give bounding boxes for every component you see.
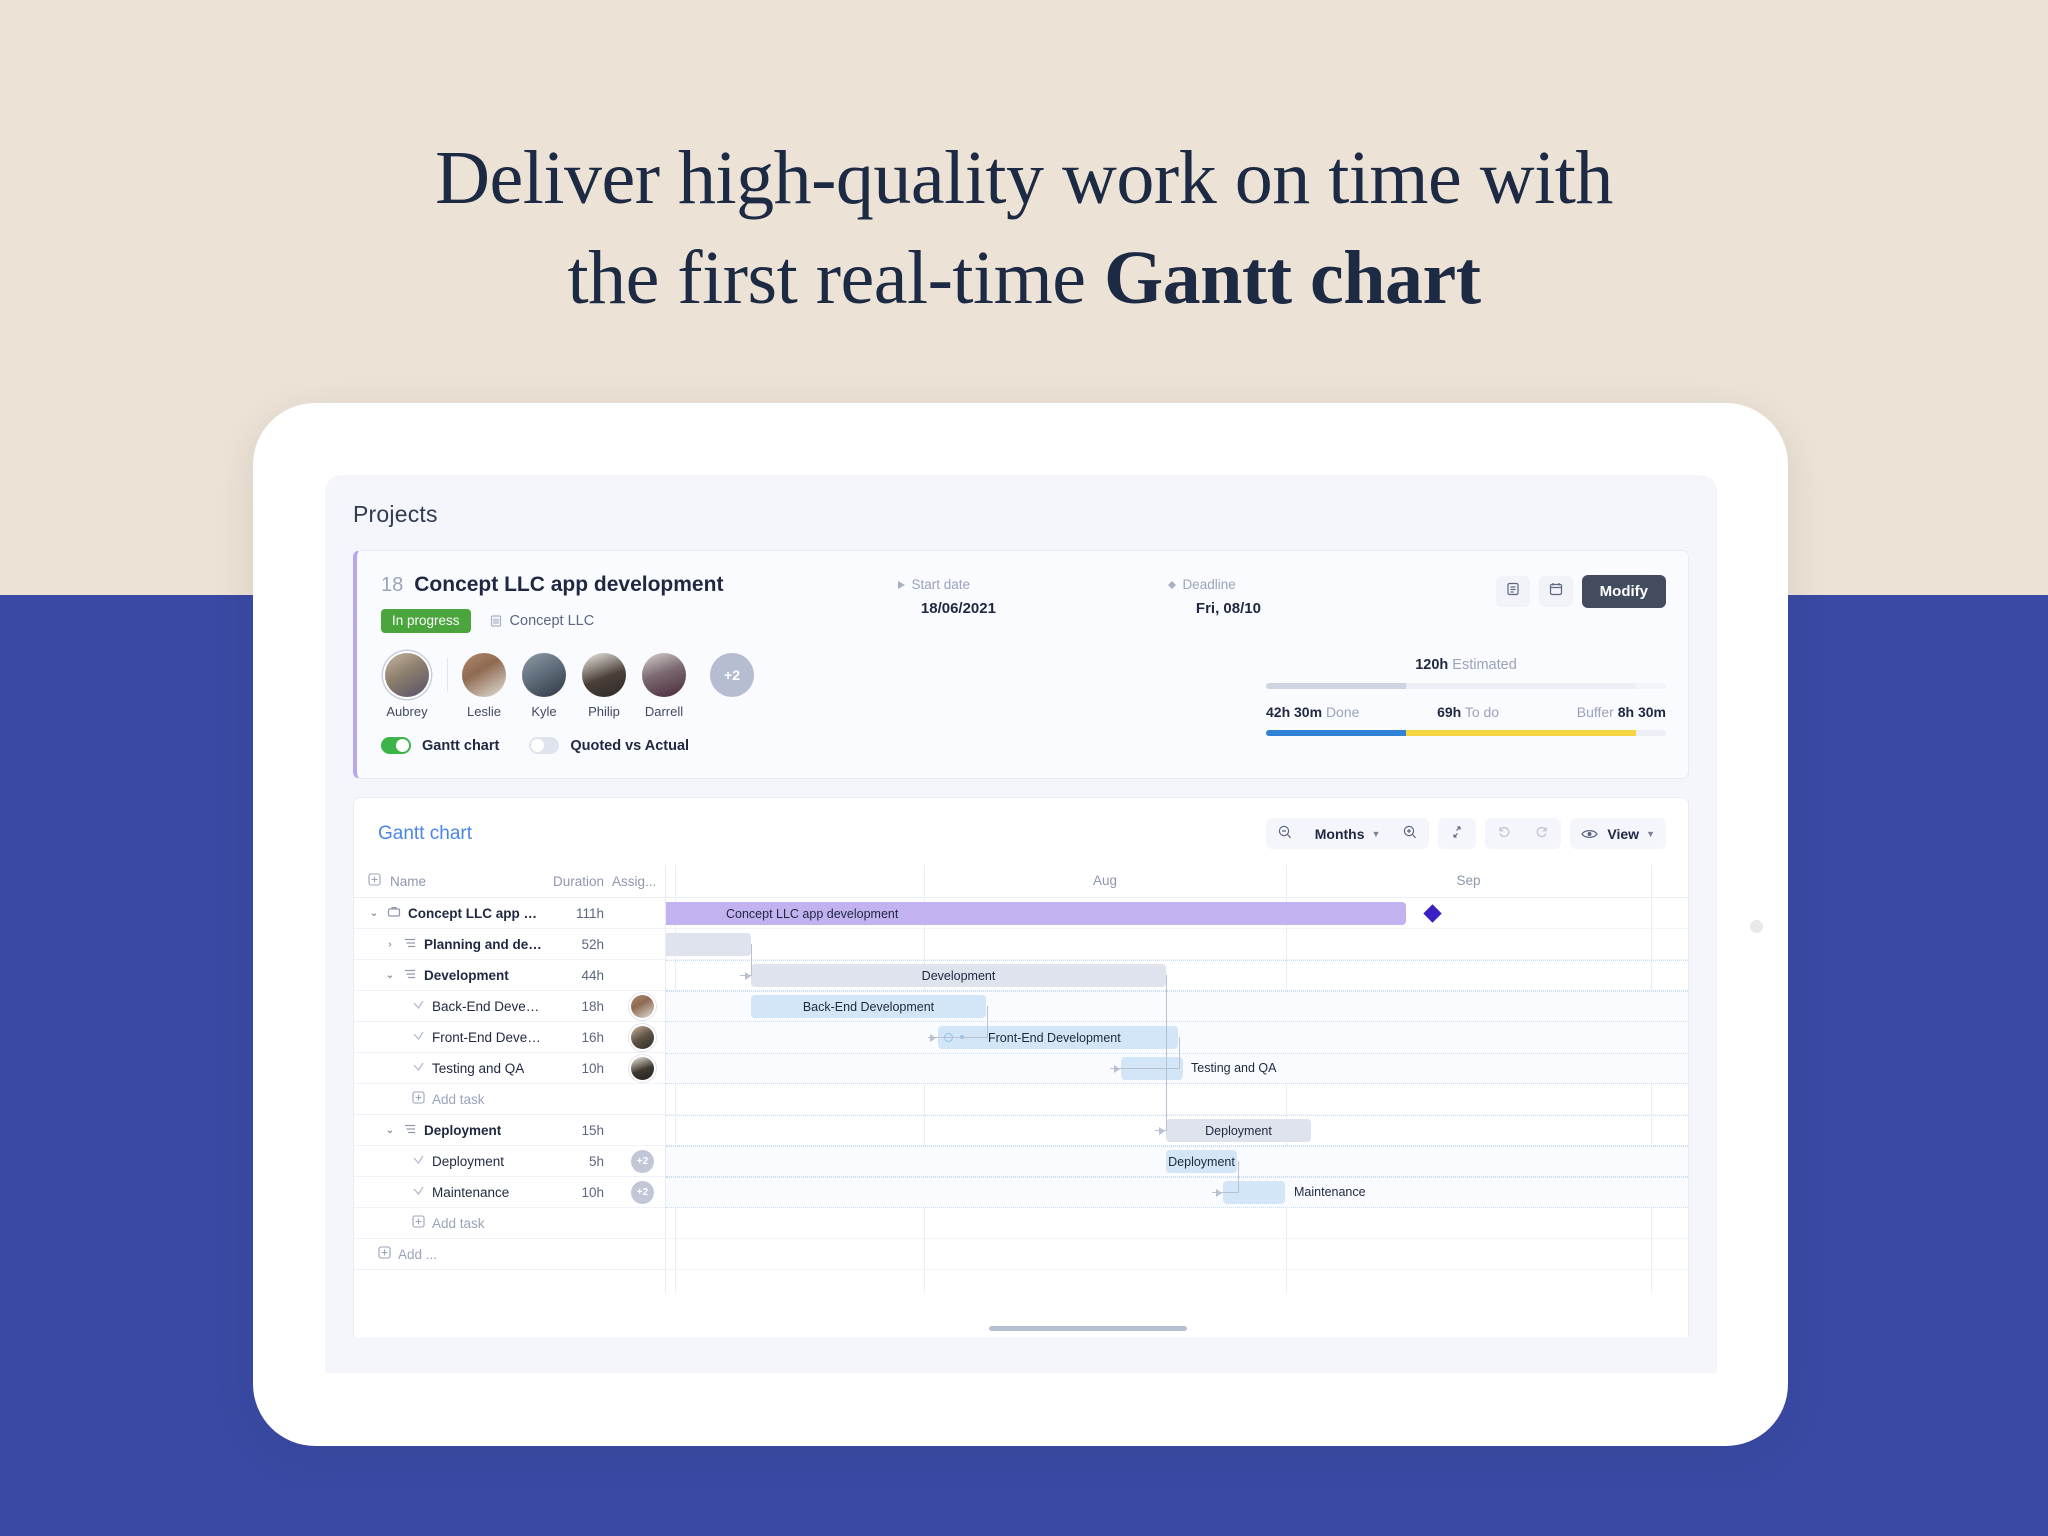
hero-headline: Deliver high-quality work on time with t… xyxy=(0,128,2048,328)
task-name: Maintenance xyxy=(432,1185,509,1200)
table-row[interactable]: ⌄ Development 44h xyxy=(354,960,665,991)
gantt-bar-planning[interactable] xyxy=(666,933,751,956)
scale-label: Months xyxy=(1315,826,1365,842)
task-duration: 15h xyxy=(542,1123,604,1138)
task-name: Front-End Development xyxy=(432,1030,542,1045)
gantt-bar-deployment-group[interactable]: Deployment xyxy=(1166,1119,1311,1142)
check-icon xyxy=(412,1153,425,1169)
hero-headline-line2: the first real-time Gantt chart xyxy=(0,228,2048,328)
avatar xyxy=(462,653,506,697)
task-duration: 44h xyxy=(542,968,604,983)
avatar xyxy=(582,653,626,697)
dependency-link xyxy=(751,944,752,976)
task-assignee[interactable]: +2 xyxy=(604,1181,654,1204)
start-date-value: 18/06/2021 xyxy=(898,600,1018,617)
task-name: Back-End Development xyxy=(432,999,542,1014)
task-duration: 5h xyxy=(542,1154,604,1169)
chevron-down-icon[interactable]: ⌄ xyxy=(384,970,396,981)
toggle-gantt-chart[interactable]: Gantt chart xyxy=(381,737,499,754)
dependency-link xyxy=(1179,1037,1180,1068)
table-row[interactable]: ⌄ Deployment 15h xyxy=(354,1115,665,1146)
estimated-value: 120h xyxy=(1415,657,1448,673)
start-date-label: Start date xyxy=(911,577,970,592)
modify-button[interactable]: Modify xyxy=(1582,575,1666,608)
table-row[interactable]: Testing and QA 10h xyxy=(354,1053,665,1084)
column-header-name: Name xyxy=(368,873,542,889)
redo-icon xyxy=(1534,824,1550,843)
fit-to-screen-button[interactable] xyxy=(1438,818,1476,849)
column-header-duration: Duration xyxy=(542,874,604,889)
table-row[interactable]: Deployment 5h +2 xyxy=(354,1146,665,1177)
zoom-scale-group: Months ▼ xyxy=(1266,818,1430,849)
avatar xyxy=(385,653,429,697)
task-name: Concept LLC app developm... xyxy=(408,906,542,921)
add-task-label: Add task xyxy=(432,1092,485,1107)
briefcase-icon xyxy=(387,905,401,921)
add-group-label: Add ... xyxy=(398,1247,437,1262)
chevron-down-icon[interactable]: ⌄ xyxy=(368,908,380,919)
dependency-arrow-icon xyxy=(1114,1065,1120,1073)
column-header-name-label: Name xyxy=(390,874,426,889)
avatar-leslie[interactable]: Leslie xyxy=(458,653,510,719)
fit-group xyxy=(1438,818,1476,849)
avatar-overflow-count[interactable]: +2 xyxy=(710,653,754,697)
deadline-label-row: Deadline xyxy=(1168,577,1288,592)
gantt-bar-label-testing: Testing and QA xyxy=(1191,1057,1276,1080)
add-task-row[interactable]: Add task xyxy=(354,1084,665,1115)
undo-button[interactable] xyxy=(1485,818,1523,849)
chevron-right-icon[interactable]: › xyxy=(384,939,396,950)
timeline-body[interactable]: Concept LLC app development Development … xyxy=(666,898,1688,1293)
project-body: Aubrey Leslie Kyle Phi xyxy=(357,653,1688,778)
add-icon xyxy=(412,1215,425,1231)
gantt-bar-label: Development xyxy=(922,969,996,983)
project-client[interactable]: Concept LLC xyxy=(489,613,595,629)
gantt-grid: Name Duration Assig... ⌄ Concept LLC app… xyxy=(354,865,1688,1293)
project-actions: Modify xyxy=(1496,573,1666,608)
timeline-header: Aug Sep xyxy=(666,865,1688,898)
building-icon xyxy=(489,614,503,628)
task-list: Name Duration Assig... ⌄ Concept LLC app… xyxy=(354,865,666,1293)
gantt-bar-development-group[interactable]: Development xyxy=(751,964,1166,987)
avatar-name: Kyle xyxy=(518,704,570,719)
todo-stat: 69h To do xyxy=(1437,704,1499,720)
gantt-bar-label-maintenance: Maintenance xyxy=(1294,1181,1366,1204)
diamond-icon xyxy=(1168,577,1176,592)
hero-headline-line2-bold: Gantt chart xyxy=(1104,236,1481,320)
dependency-link xyxy=(1110,1068,1180,1069)
start-date-column: Start date 18/06/2021 xyxy=(898,577,1018,617)
check-icon xyxy=(412,1060,425,1076)
project-id: 18 xyxy=(381,574,403,597)
horizontal-scrollbar[interactable] xyxy=(989,1326,1187,1331)
avatar-name: Leslie xyxy=(458,704,510,719)
project-name[interactable]: Concept LLC app development xyxy=(414,573,723,597)
estimated-label: Estimated xyxy=(1452,657,1516,673)
add-column-icon[interactable] xyxy=(368,873,381,889)
zoom-in-button[interactable] xyxy=(1391,818,1429,849)
task-name: Deployment xyxy=(424,1123,501,1138)
avatar-name: Aubrey xyxy=(381,704,433,719)
deadline-column: Deadline Fri, 08/10 xyxy=(1168,577,1288,617)
dependency-arrow-icon xyxy=(1159,1127,1165,1135)
gantt-title: Gantt chart xyxy=(378,823,472,845)
gantt-chart-card: Gantt chart Months ▼ xyxy=(353,797,1689,1337)
toggle-label: Quoted vs Actual xyxy=(570,738,689,754)
dependency-arrow-icon xyxy=(745,972,751,980)
stack-icon xyxy=(403,1123,417,1138)
check-icon xyxy=(412,1029,425,1045)
notes-icon xyxy=(1505,581,1521,602)
progress-summary: 120h Estimated 42h 30m Done 69h To do Bu… xyxy=(1266,653,1666,754)
history-group xyxy=(1485,818,1561,849)
add-icon xyxy=(378,1246,391,1262)
gantt-timeline[interactable]: Aug Sep xyxy=(666,865,1688,1293)
gantt-bar-label: Back-End Development xyxy=(803,1000,934,1014)
gantt-bar-label: Deployment xyxy=(1205,1124,1272,1138)
gantt-bar-backend[interactable]: Back-End Development xyxy=(751,995,986,1018)
dependency-arrow-icon xyxy=(930,1034,936,1042)
team-avatars: Aubrey Leslie Kyle Phi xyxy=(381,653,754,719)
view-toggles: Gantt chart Quoted vs Actual xyxy=(381,737,754,754)
add-group-row[interactable]: Add ... xyxy=(354,1239,665,1270)
done-label: Done xyxy=(1326,704,1359,720)
view-group: View ▼ xyxy=(1570,818,1666,849)
dependency-link xyxy=(987,1006,988,1037)
task-duration: 10h xyxy=(542,1185,604,1200)
chevron-down-icon[interactable]: ⌄ xyxy=(384,1125,396,1136)
avatar xyxy=(631,1026,654,1049)
play-triangle-icon xyxy=(898,577,905,592)
project-identity: 18 Concept LLC app development In progre… xyxy=(381,573,723,633)
chevron-down-icon: ▼ xyxy=(1646,829,1655,839)
task-name: Development xyxy=(424,968,509,983)
add-task-row[interactable]: Add task xyxy=(354,1208,665,1239)
gantt-bar-project[interactable]: Concept LLC app development xyxy=(666,902,1406,925)
gantt-bar-label: Concept LLC app development xyxy=(726,907,898,921)
done-value: 42h 30m xyxy=(1266,704,1322,720)
project-dates: Start date 18/06/2021 Deadline Fri, 08/1… xyxy=(898,573,1288,617)
table-row[interactable]: ⌄ Concept LLC app developm... 111h xyxy=(354,898,665,929)
task-duration: 111h xyxy=(542,906,604,921)
avatar xyxy=(642,653,686,697)
zoom-in-icon xyxy=(1402,824,1418,843)
task-duration: 10h xyxy=(542,1061,604,1076)
gantt-toolbar: Gantt chart Months ▼ xyxy=(354,798,1688,865)
project-card: 18 Concept LLC app development In progre… xyxy=(353,550,1689,779)
task-duration: 16h xyxy=(542,1030,604,1045)
project-title-row: 18 Concept LLC app development xyxy=(381,573,723,597)
check-icon xyxy=(412,998,425,1014)
toggle-switch-off[interactable] xyxy=(529,737,559,754)
task-name: Testing and QA xyxy=(432,1061,524,1076)
avatar xyxy=(631,1057,654,1080)
gantt-tool-groups: Months ▼ xyxy=(1266,818,1666,849)
zoom-out-button[interactable] xyxy=(1266,818,1304,849)
gantt-bar-label: Deployment xyxy=(1168,1155,1235,1169)
timeline-month-label: Sep xyxy=(1286,873,1651,888)
page-title: Projects xyxy=(353,501,1689,528)
device-camera-dot xyxy=(1750,920,1763,933)
buffer-label: Buffer xyxy=(1577,704,1614,720)
table-row[interactable]: › Planning and design 52h xyxy=(354,929,665,960)
status-badge[interactable]: In progress xyxy=(381,609,471,633)
add-task-label: Add task xyxy=(432,1216,485,1231)
table-row[interactable]: Maintenance 10h +2 xyxy=(354,1177,665,1208)
project-client-label: Concept LLC xyxy=(510,613,595,629)
deadline-label: Deadline xyxy=(1182,577,1235,592)
table-row[interactable]: Front-End Development 16h xyxy=(354,1022,665,1053)
dependency-arrow-icon xyxy=(1216,1189,1222,1197)
toggle-label: Gantt chart xyxy=(422,738,499,754)
task-list-header: Name Duration Assig... xyxy=(354,865,665,898)
notes-icon-button[interactable] xyxy=(1496,576,1530,607)
estimated-line: 120h Estimated xyxy=(1266,657,1666,673)
task-assignee[interactable] xyxy=(604,1057,654,1080)
dependency-link xyxy=(928,1037,988,1038)
table-row[interactable]: Back-End Development 18h xyxy=(354,991,665,1022)
estimate-bar xyxy=(1266,683,1666,689)
toggle-quoted-vs-actual[interactable]: Quoted vs Actual xyxy=(529,737,689,754)
project-header: 18 Concept LLC app development In progre… xyxy=(357,551,1688,653)
fit-to-screen-icon xyxy=(1449,824,1465,843)
task-assignee[interactable]: +2 xyxy=(604,1150,654,1173)
hero-headline-line1: Deliver high-quality work on time with xyxy=(0,128,2048,228)
chevron-down-icon: ▼ xyxy=(1372,829,1381,839)
deadline-value: Fri, 08/10 xyxy=(1168,600,1288,617)
task-assignee[interactable] xyxy=(604,995,654,1018)
avatar-name: Philip xyxy=(578,704,630,719)
assignee-overflow: +2 xyxy=(631,1181,654,1204)
hero-headline-line2-normal: the first real-time xyxy=(567,236,1104,320)
avatar-divider xyxy=(447,658,448,692)
avatar xyxy=(522,653,566,697)
done-stat: 42h 30m Done xyxy=(1266,704,1359,720)
timeline-month-label: Aug xyxy=(924,873,1286,888)
view-label: View xyxy=(1607,826,1639,842)
task-duration: 18h xyxy=(542,999,604,1014)
progress-bar xyxy=(1266,730,1666,736)
view-button[interactable]: View ▼ xyxy=(1570,818,1666,849)
add-icon xyxy=(412,1091,425,1107)
gantt-bar-label: Front-End Development xyxy=(988,1031,1121,1045)
task-assignee[interactable] xyxy=(604,1026,654,1049)
toggle-switch-on[interactable] xyxy=(381,737,411,754)
check-icon xyxy=(412,1184,425,1200)
task-name: Planning and design xyxy=(424,937,542,952)
buffer-stat: Buffer 8h 30m xyxy=(1577,704,1666,720)
avatar-aubrey[interactable]: Aubrey xyxy=(381,653,433,719)
undo-icon xyxy=(1496,824,1512,843)
avatar-darrell[interactable]: Darrell xyxy=(638,653,690,719)
todo-label: To do xyxy=(1465,704,1499,720)
column-header-assignee: Assig... xyxy=(604,874,654,889)
calendar-icon xyxy=(1548,581,1564,602)
task-duration: 52h xyxy=(542,937,604,952)
start-date-label-row: Start date xyxy=(898,577,1018,592)
progress-stats: 42h 30m Done 69h To do Buffer 8h 30m xyxy=(1266,704,1666,720)
app-screen: Projects 18 Concept LLC app development … xyxy=(325,475,1717,1373)
avatar-philip[interactable]: Philip xyxy=(578,653,630,719)
assignee-overflow: +2 xyxy=(631,1150,654,1173)
stack-icon xyxy=(403,968,417,983)
task-name: Deployment xyxy=(432,1154,504,1169)
dependency-link xyxy=(1238,1161,1239,1192)
calendar-icon-button[interactable] xyxy=(1539,576,1573,607)
zoom-out-icon xyxy=(1277,824,1293,843)
eye-icon xyxy=(1581,828,1598,840)
redo-button[interactable] xyxy=(1523,818,1561,849)
buffer-value: 8h 30m xyxy=(1618,704,1666,720)
dependency-link xyxy=(1166,975,1167,1130)
project-meta-row: In progress Concept LLC xyxy=(381,609,723,633)
avatar xyxy=(631,995,654,1018)
stack-icon xyxy=(403,937,417,952)
avatar-kyle[interactable]: Kyle xyxy=(518,653,570,719)
todo-value: 69h xyxy=(1437,704,1461,720)
team-and-toggles: Aubrey Leslie Kyle Phi xyxy=(381,653,754,754)
scale-select[interactable]: Months ▼ xyxy=(1304,818,1392,849)
gantt-bar-deployment[interactable]: Deployment xyxy=(1166,1150,1237,1173)
avatar-name: Darrell xyxy=(638,704,690,719)
